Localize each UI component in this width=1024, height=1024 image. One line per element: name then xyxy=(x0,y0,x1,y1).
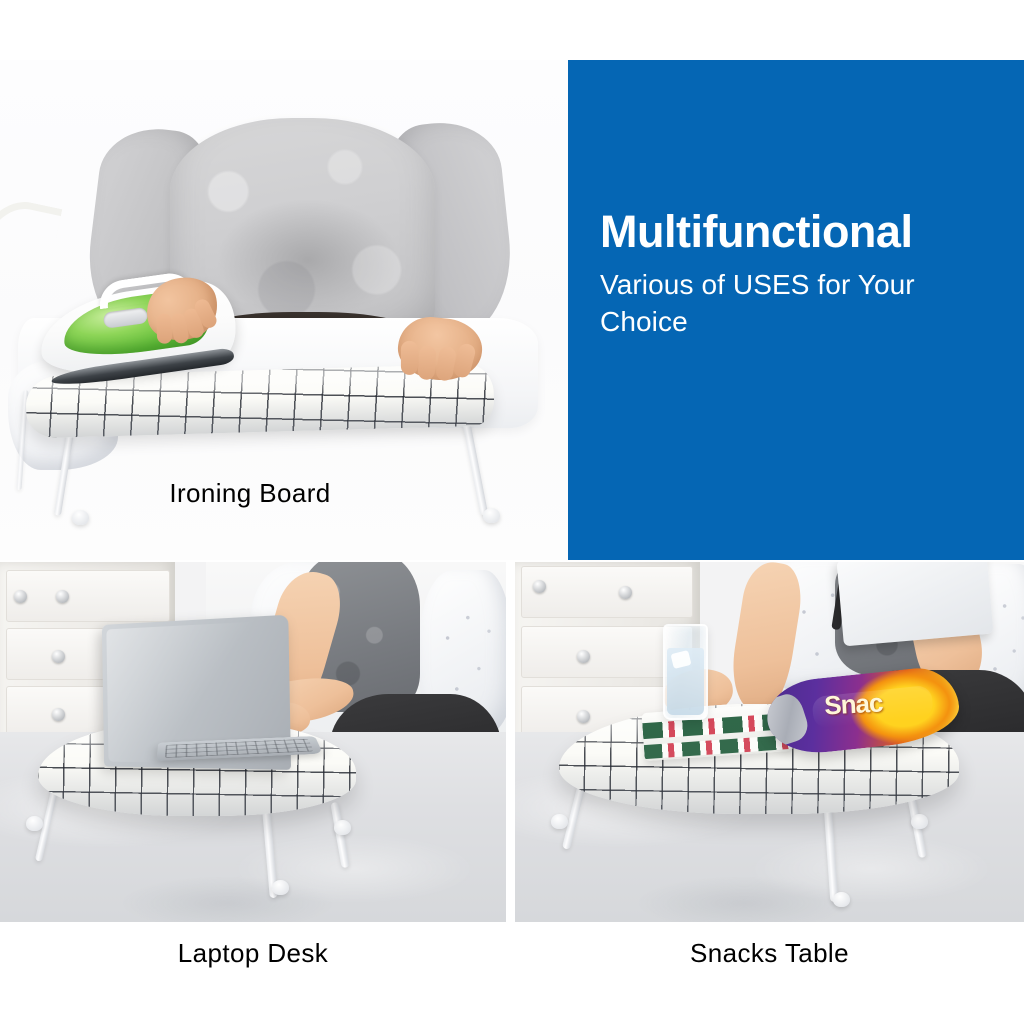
caption-laptop-desk: Laptop Desk xyxy=(0,938,506,969)
board-foot-left xyxy=(72,510,89,525)
board-foot-right xyxy=(334,820,351,835)
finger xyxy=(401,341,418,375)
dresser-drawer xyxy=(6,570,170,622)
caption-snacks-table: Snacks Table xyxy=(515,938,1024,969)
photo-panel-snacks-table: Snac xyxy=(515,562,1024,922)
finger xyxy=(156,313,172,344)
board-foot-left xyxy=(26,816,43,831)
promo-subheadline: Various of USES for Your Choice xyxy=(600,267,945,340)
board-foot-front xyxy=(272,880,289,895)
promo-text-panel: Multifunctional Various of USES for Your… xyxy=(568,60,1024,560)
dresser-knob xyxy=(619,586,632,599)
chip-bag-label: Snac xyxy=(823,687,883,721)
tablet-device xyxy=(837,562,994,646)
board-foot-front xyxy=(833,892,850,907)
photo-panel-laptop-desk xyxy=(0,562,506,922)
dresser-knob xyxy=(577,650,590,663)
dresser-knob xyxy=(533,580,546,593)
chip-bag-scrunched-end xyxy=(764,691,812,751)
board-foot-left xyxy=(551,814,568,829)
board-foot-right xyxy=(911,814,928,829)
board-foot-right xyxy=(483,508,500,523)
dresser-knob xyxy=(52,650,65,663)
finger xyxy=(417,345,436,380)
dresser-knob xyxy=(56,590,69,603)
water-glass xyxy=(663,624,708,720)
dresser-drawer xyxy=(521,566,693,618)
product-infographic: Ironing Board Multifunctional Various of… xyxy=(0,0,1024,1024)
dresser-knob xyxy=(14,590,27,603)
caption-ironing-board: Ironing Board xyxy=(0,478,500,509)
promo-headline: Multifunctional xyxy=(600,208,1024,255)
